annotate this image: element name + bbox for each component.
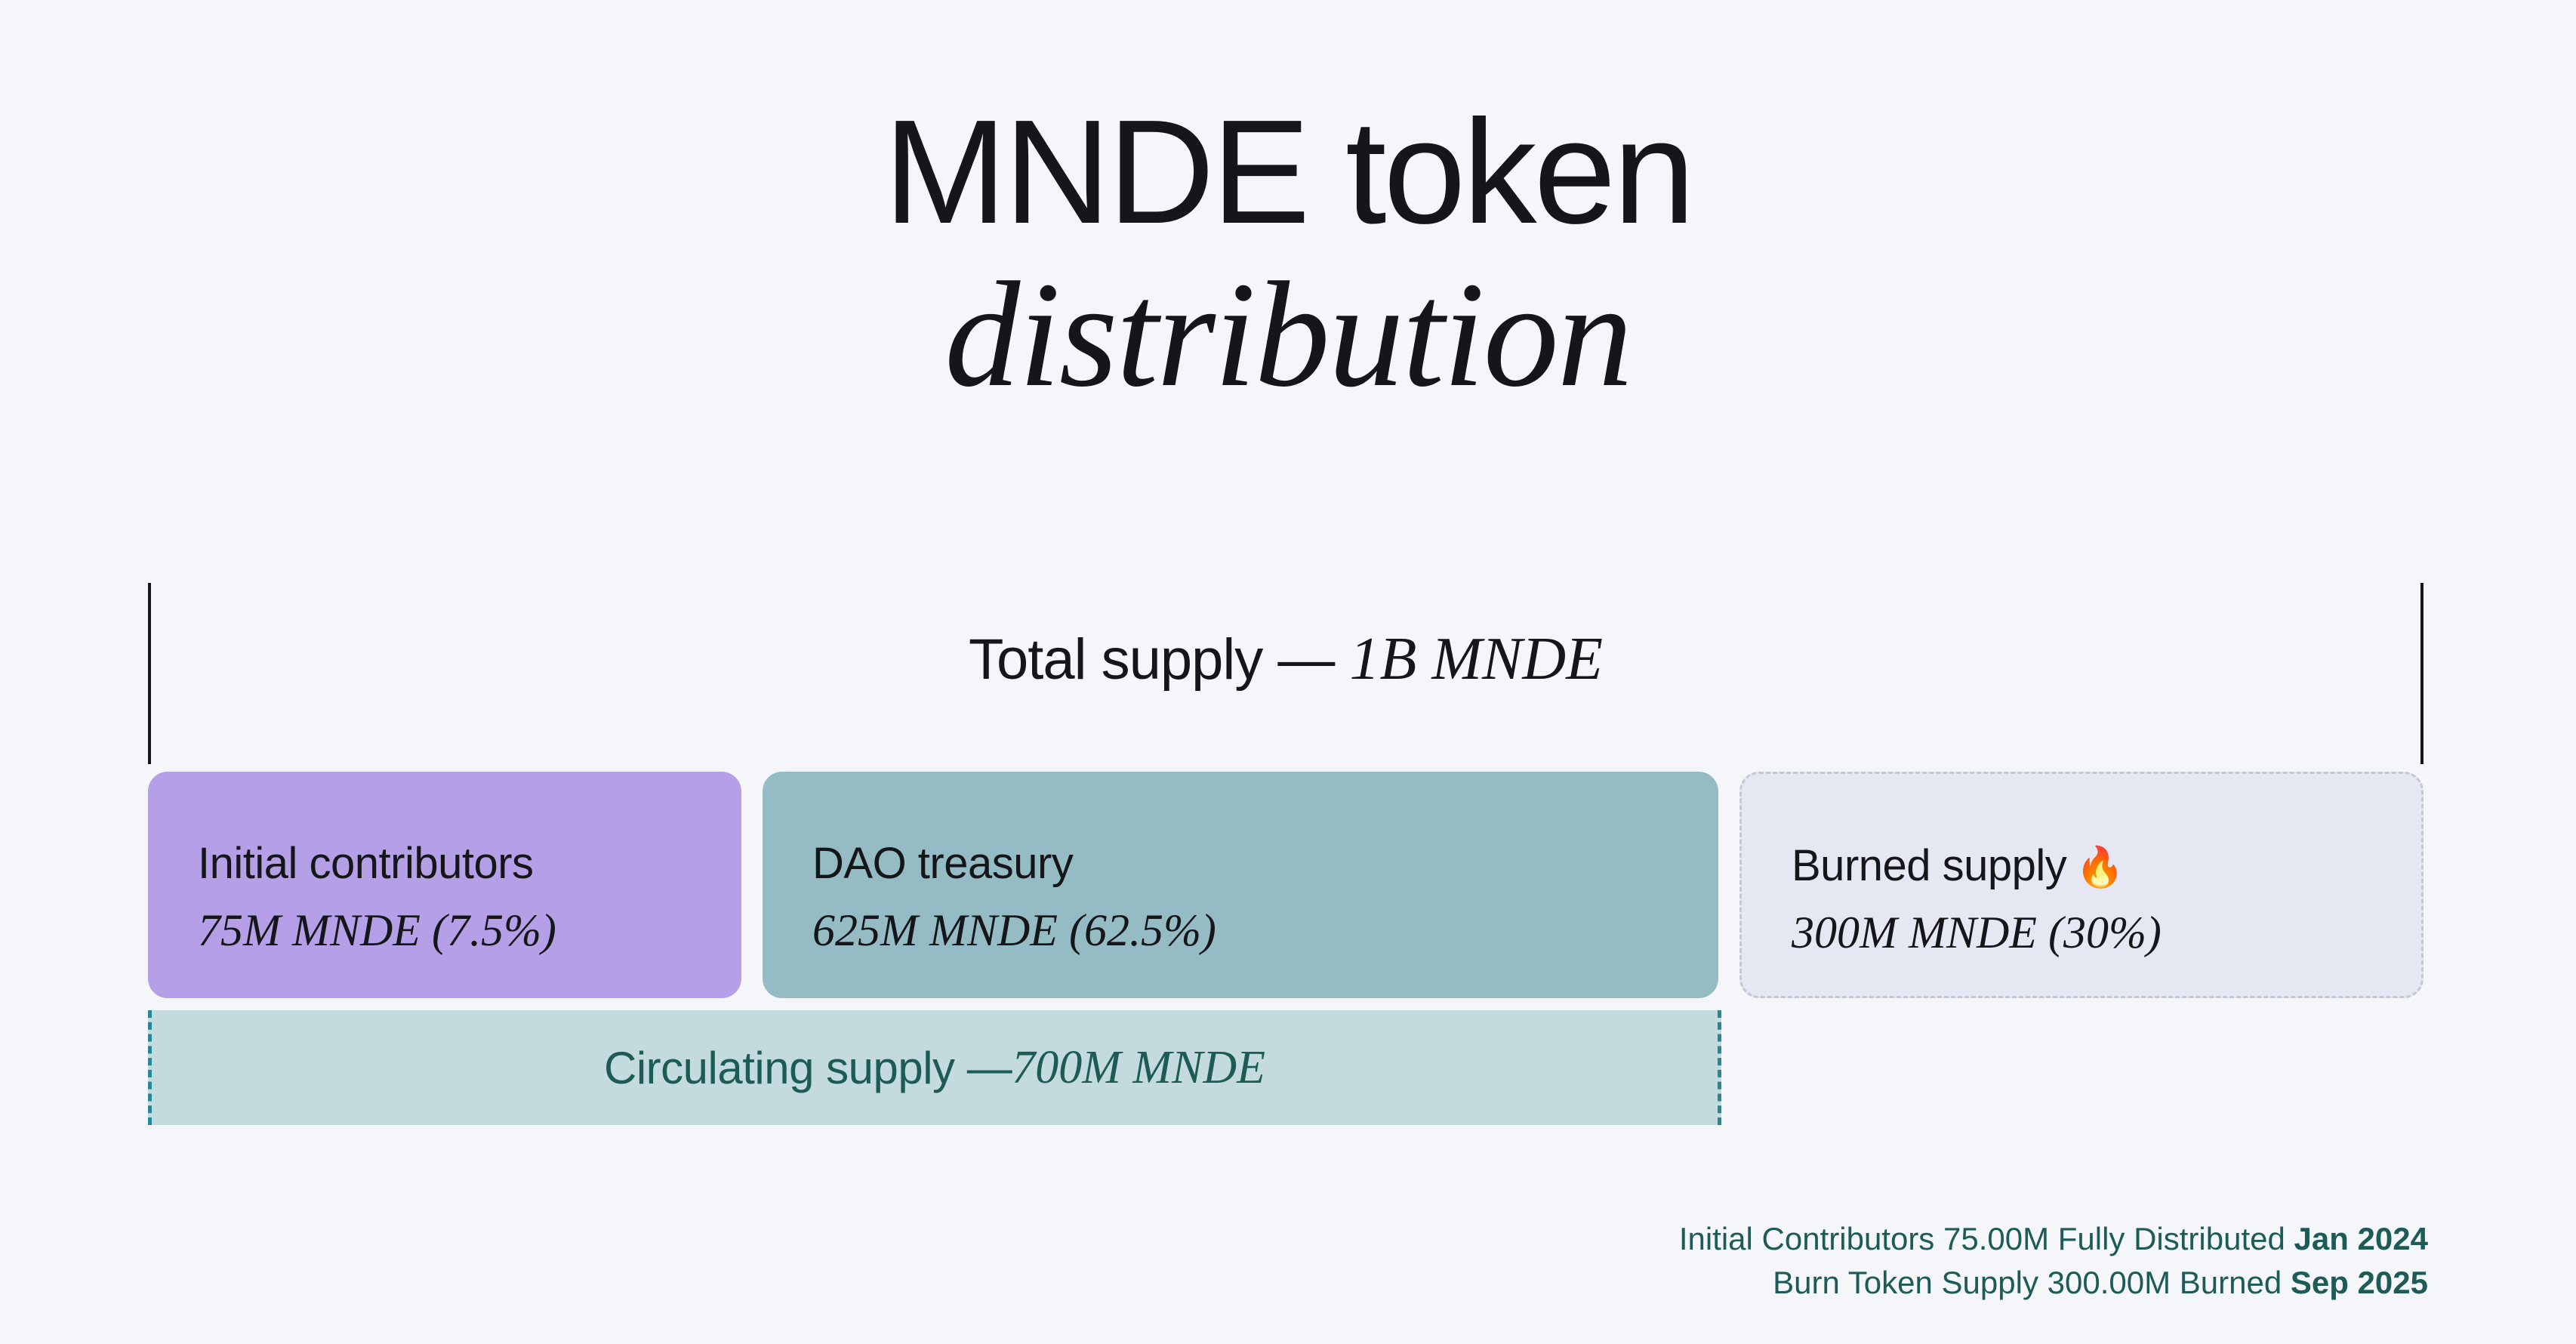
footnote-date-2: Sep 2025 (2291, 1265, 2428, 1300)
circulating-supply-label: Circulating supply — (604, 1042, 1012, 1094)
bar-burned-supply[interactable]: Burned supply🔥 300M MNDE (30%) (1739, 772, 2423, 998)
bar-dao-treasury[interactable]: DAO treasury 625M MNDE (62.5%) (763, 772, 1718, 998)
bar-value-dao-treasury: 625M MNDE (62.5%) (812, 905, 1216, 957)
bar-label-dao-treasury: DAO treasury (812, 838, 1073, 889)
bar-value-initial-contributors: 75M MNDE (7.5%) (198, 905, 556, 957)
bar-label-burned-supply-text: Burned supply (1792, 841, 2066, 890)
bar-label-initial-contributors: Initial contributors (198, 838, 534, 889)
footnote-line-2: Burn Token Supply 300.00M Burned Sep 202… (1679, 1261, 2428, 1305)
title-line-secondary: distribution (0, 260, 2576, 411)
total-supply-value: 1B MNDE (1350, 626, 1604, 692)
total-supply-label: Total supply — (969, 627, 1350, 692)
bar-label-burned-supply: Burned supply🔥 (1792, 840, 2125, 891)
circulating-supply-bar[interactable]: Circulating supply — 700M MNDE (148, 1010, 1721, 1125)
footnote-text-2: Burn Token Supply 300.00M Burned (1773, 1265, 2291, 1300)
page-title: MNDE token distribution (0, 98, 2576, 411)
footnotes: Initial Contributors 75.00M Fully Distri… (1679, 1217, 2428, 1305)
title-line-primary: MNDE token (0, 98, 2576, 246)
total-supply-caption: Total supply — 1B MNDE (148, 625, 2423, 694)
footnote-line-1: Initial Contributors 75.00M Fully Distri… (1679, 1217, 2428, 1261)
bar-initial-contributors[interactable]: Initial contributors 75M MNDE (7.5%) (148, 772, 741, 998)
fire-icon: 🔥 (2075, 845, 2124, 890)
circulating-supply-value: 700M MNDE (1012, 1041, 1265, 1095)
footnote-date-1: Jan 2024 (2294, 1221, 2428, 1256)
distribution-bars: Initial contributors 75M MNDE (7.5%) DAO… (148, 772, 2423, 998)
footnote-text-1: Initial Contributors 75.00M Fully Distri… (1679, 1221, 2294, 1256)
bar-value-burned-supply: 300M MNDE (30%) (1792, 907, 2162, 959)
